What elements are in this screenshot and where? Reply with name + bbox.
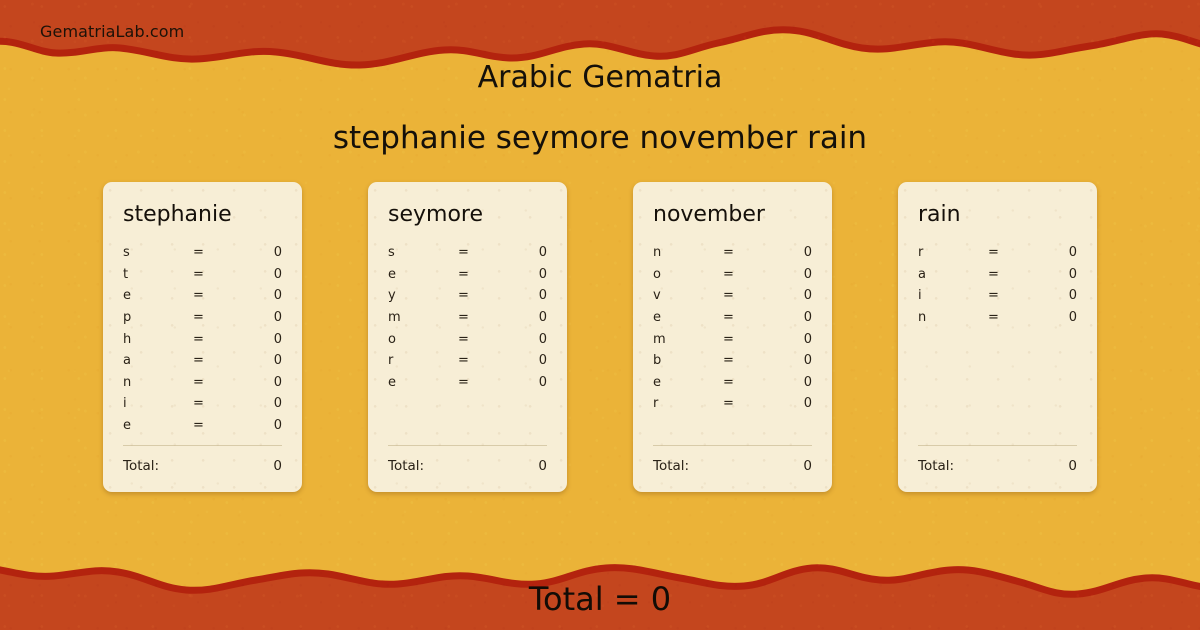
word-total-value: 0 bbox=[803, 458, 812, 474]
word-card: seymores=0e=0y=0m=0o=0r=0e=0Total:0 bbox=[368, 182, 567, 492]
letter-value: 0 bbox=[240, 267, 282, 282]
letter-row: s=0 bbox=[388, 242, 547, 264]
page-title: Arabic Gematria bbox=[0, 60, 1200, 95]
letter-value: 0 bbox=[1035, 310, 1077, 325]
letter-value: 0 bbox=[770, 267, 812, 282]
word-total-value: 0 bbox=[538, 458, 547, 474]
letter-value: 0 bbox=[505, 288, 547, 303]
letter-row: s=0 bbox=[123, 242, 282, 264]
letter-row: e=0 bbox=[653, 307, 812, 329]
word-card-list: stephanies=0t=0e=0p=0h=0a=0n=0i=0e=0Tota… bbox=[0, 182, 1200, 492]
word-total-value: 0 bbox=[1068, 458, 1077, 474]
equals-sign: = bbox=[988, 245, 1035, 260]
letter-char: i bbox=[918, 288, 988, 303]
equals-sign: = bbox=[458, 245, 505, 260]
letter-row: i=0 bbox=[918, 285, 1077, 307]
letter-char: o bbox=[653, 267, 723, 282]
letter-value: 0 bbox=[505, 245, 547, 260]
equals-sign: = bbox=[458, 332, 505, 347]
equals-sign: = bbox=[193, 375, 240, 390]
word-title: november bbox=[653, 204, 812, 226]
word-total-label: Total: bbox=[388, 458, 424, 474]
word-title: rain bbox=[918, 204, 1077, 226]
letter-row: i=0 bbox=[123, 393, 282, 415]
equals-sign: = bbox=[988, 267, 1035, 282]
letter-char: t bbox=[123, 267, 193, 282]
letter-char: e bbox=[388, 267, 458, 282]
letter-char: b bbox=[653, 353, 723, 368]
letter-row: y=0 bbox=[388, 285, 547, 307]
word-total-row: Total:0 bbox=[918, 458, 1077, 474]
site-brand[interactable]: GematriaLab.com bbox=[40, 22, 184, 41]
letter-row: m=0 bbox=[653, 328, 812, 350]
letter-value: 0 bbox=[240, 332, 282, 347]
word-total-label: Total: bbox=[653, 458, 689, 474]
equals-sign: = bbox=[723, 396, 770, 411]
equals-sign: = bbox=[193, 418, 240, 433]
letter-char: s bbox=[123, 245, 193, 260]
letter-char: p bbox=[123, 310, 193, 325]
equals-sign: = bbox=[458, 310, 505, 325]
letter-char: a bbox=[918, 267, 988, 282]
letter-row: m=0 bbox=[388, 307, 547, 329]
word-total-row: Total:0 bbox=[388, 458, 547, 474]
letter-char: r bbox=[918, 245, 988, 260]
letter-row: v=0 bbox=[653, 285, 812, 307]
word-total-label: Total: bbox=[918, 458, 954, 474]
divider bbox=[918, 445, 1077, 446]
letter-row: e=0 bbox=[388, 372, 547, 394]
letter-row: t=0 bbox=[123, 264, 282, 286]
word-total-row: Total:0 bbox=[653, 458, 812, 474]
equals-sign: = bbox=[193, 332, 240, 347]
letter-char: e bbox=[123, 418, 193, 433]
equals-sign: = bbox=[723, 375, 770, 390]
word-total-label: Total: bbox=[123, 458, 159, 474]
letter-char: n bbox=[653, 245, 723, 260]
letter-char: n bbox=[123, 375, 193, 390]
letter-char: s bbox=[388, 245, 458, 260]
letter-row: n=0 bbox=[918, 307, 1077, 329]
letter-row: h=0 bbox=[123, 328, 282, 350]
letter-value: 0 bbox=[505, 310, 547, 325]
letter-value: 0 bbox=[770, 288, 812, 303]
letter-value: 0 bbox=[240, 418, 282, 433]
letter-char: m bbox=[653, 332, 723, 347]
divider bbox=[388, 445, 547, 446]
letter-value: 0 bbox=[505, 267, 547, 282]
letter-value: 0 bbox=[770, 353, 812, 368]
divider bbox=[123, 445, 282, 446]
word-card: stephanies=0t=0e=0p=0h=0a=0n=0i=0e=0Tota… bbox=[103, 182, 302, 492]
letter-row: n=0 bbox=[123, 372, 282, 394]
letter-value: 0 bbox=[770, 332, 812, 347]
letter-row: p=0 bbox=[123, 307, 282, 329]
letter-rows: s=0t=0e=0p=0h=0a=0n=0i=0e=0 bbox=[123, 242, 282, 445]
equals-sign: = bbox=[988, 288, 1035, 303]
grand-total: Total = 0 bbox=[0, 580, 1200, 618]
letter-value: 0 bbox=[505, 332, 547, 347]
equals-sign: = bbox=[458, 267, 505, 282]
equals-sign: = bbox=[458, 288, 505, 303]
letter-rows: r=0a=0i=0n=0 bbox=[918, 242, 1077, 445]
letter-row: b=0 bbox=[653, 350, 812, 372]
equals-sign: = bbox=[193, 267, 240, 282]
letter-value: 0 bbox=[505, 375, 547, 390]
letter-char: e bbox=[388, 375, 458, 390]
equals-sign: = bbox=[458, 375, 505, 390]
letter-value: 0 bbox=[770, 396, 812, 411]
letter-value: 0 bbox=[770, 245, 812, 260]
letter-value: 0 bbox=[240, 375, 282, 390]
equals-sign: = bbox=[458, 353, 505, 368]
equals-sign: = bbox=[193, 288, 240, 303]
equals-sign: = bbox=[723, 267, 770, 282]
letter-value: 0 bbox=[1035, 245, 1077, 260]
letter-value: 0 bbox=[240, 396, 282, 411]
letter-row: o=0 bbox=[388, 328, 547, 350]
letter-char: e bbox=[123, 288, 193, 303]
equals-sign: = bbox=[723, 332, 770, 347]
equals-sign: = bbox=[988, 310, 1035, 325]
letter-row: r=0 bbox=[918, 242, 1077, 264]
letter-char: a bbox=[123, 353, 193, 368]
card-footer: Total:0 bbox=[918, 445, 1077, 492]
letter-row: e=0 bbox=[123, 285, 282, 307]
letter-value: 0 bbox=[1035, 267, 1077, 282]
card-footer: Total:0 bbox=[653, 445, 812, 492]
divider bbox=[653, 445, 812, 446]
letter-row: o=0 bbox=[653, 264, 812, 286]
word-card: novembern=0o=0v=0e=0m=0b=0e=0r=0Total:0 bbox=[633, 182, 832, 492]
letter-char: n bbox=[918, 310, 988, 325]
letter-char: r bbox=[653, 396, 723, 411]
gematria-result-card: GematriaLab.com Arabic Gematria stephani… bbox=[0, 0, 1200, 630]
word-card: rainr=0a=0i=0n=0Total:0 bbox=[898, 182, 1097, 492]
letter-row: e=0 bbox=[653, 372, 812, 394]
letter-row: n=0 bbox=[653, 242, 812, 264]
letter-char: m bbox=[388, 310, 458, 325]
letter-row: r=0 bbox=[388, 350, 547, 372]
letter-row: e=0 bbox=[123, 415, 282, 437]
letter-rows: s=0e=0y=0m=0o=0r=0e=0 bbox=[388, 242, 547, 445]
letter-row: e=0 bbox=[388, 264, 547, 286]
letter-row: a=0 bbox=[918, 264, 1077, 286]
letter-char: i bbox=[123, 396, 193, 411]
word-total-row: Total:0 bbox=[123, 458, 282, 474]
equals-sign: = bbox=[193, 396, 240, 411]
letter-value: 0 bbox=[770, 310, 812, 325]
equals-sign: = bbox=[723, 310, 770, 325]
equals-sign: = bbox=[723, 245, 770, 260]
letter-value: 0 bbox=[770, 375, 812, 390]
letter-char: e bbox=[653, 310, 723, 325]
letter-value: 0 bbox=[240, 353, 282, 368]
letter-value: 0 bbox=[240, 245, 282, 260]
query-phrase: stephanie seymore november rain bbox=[0, 120, 1200, 156]
letter-char: o bbox=[388, 332, 458, 347]
letter-value: 0 bbox=[240, 310, 282, 325]
letter-row: r=0 bbox=[653, 393, 812, 415]
letter-value: 0 bbox=[1035, 288, 1077, 303]
letter-char: h bbox=[123, 332, 193, 347]
equals-sign: = bbox=[723, 288, 770, 303]
letter-char: e bbox=[653, 375, 723, 390]
word-total-value: 0 bbox=[273, 458, 282, 474]
letter-value: 0 bbox=[505, 353, 547, 368]
letter-value: 0 bbox=[240, 288, 282, 303]
word-title: seymore bbox=[388, 204, 547, 226]
equals-sign: = bbox=[193, 310, 240, 325]
equals-sign: = bbox=[723, 353, 770, 368]
equals-sign: = bbox=[193, 245, 240, 260]
card-footer: Total:0 bbox=[123, 445, 282, 492]
card-footer: Total:0 bbox=[388, 445, 547, 492]
letter-row: a=0 bbox=[123, 350, 282, 372]
letter-rows: n=0o=0v=0e=0m=0b=0e=0r=0 bbox=[653, 242, 812, 445]
equals-sign: = bbox=[193, 353, 240, 368]
letter-char: v bbox=[653, 288, 723, 303]
letter-char: y bbox=[388, 288, 458, 303]
letter-char: r bbox=[388, 353, 458, 368]
word-title: stephanie bbox=[123, 204, 282, 226]
